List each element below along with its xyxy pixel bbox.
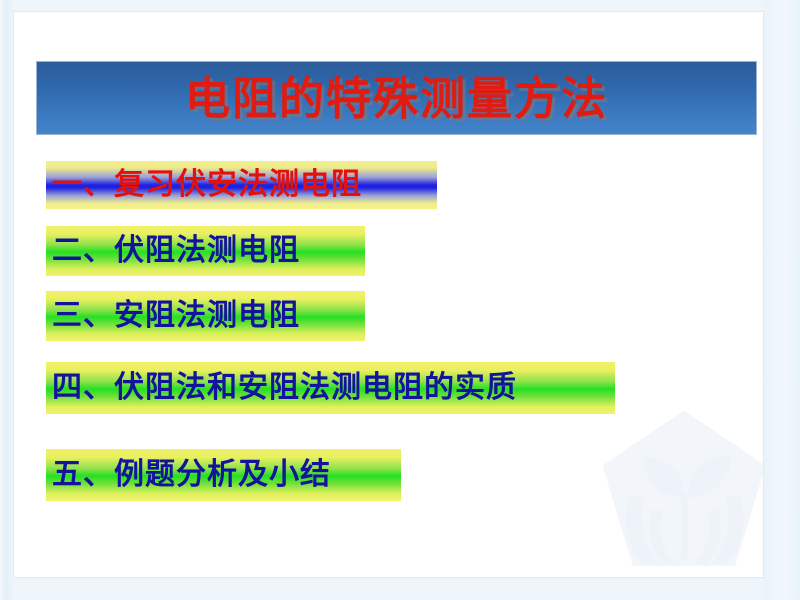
agenda-item-label: 四、伏阻法和安阻法测电阻的实质 [46, 373, 523, 403]
presentation-slide: 电阻的特殊测量方法 一、复习伏安法测电阻 二、伏阻法测电阻 三、安阻法测电阻 四… [0, 0, 800, 600]
page-title: 电阻的特殊测量方法 [185, 76, 608, 121]
agenda-item-5-examples-and-summary[interactable]: 五、例题分析及小结 [46, 449, 401, 501]
agenda-item-label: 二、伏阻法测电阻 [46, 236, 306, 266]
agenda-item-4-essence-of-methods[interactable]: 四、伏阻法和安阻法测电阻的实质 [46, 362, 615, 414]
slide-margin-left [0, 0, 14, 600]
slide-margin-right [764, 0, 800, 600]
agenda-item-label: 三、安阻法测电阻 [46, 301, 306, 331]
agenda-item-label: 一、复习伏安法测电阻 [46, 170, 368, 200]
agenda-item-2-volt-resistance-method[interactable]: 二、伏阻法测电阻 [46, 226, 365, 276]
agenda-item-label: 五、例题分析及小结 [46, 460, 337, 490]
slide-canvas: 电阻的特殊测量方法 一、复习伏安法测电阻 二、伏阻法测电阻 三、安阻法测电阻 四… [13, 11, 764, 578]
agenda-item-1-review-volt-ampere-method[interactable]: 一、复习伏安法测电阻 [46, 161, 437, 209]
hands-holding-sprout-watermark [589, 403, 764, 578]
slide-title-banner: 电阻的特殊测量方法 [36, 61, 757, 135]
agenda-item-3-ampere-resistance-method[interactable]: 三、安阻法测电阻 [46, 291, 365, 341]
